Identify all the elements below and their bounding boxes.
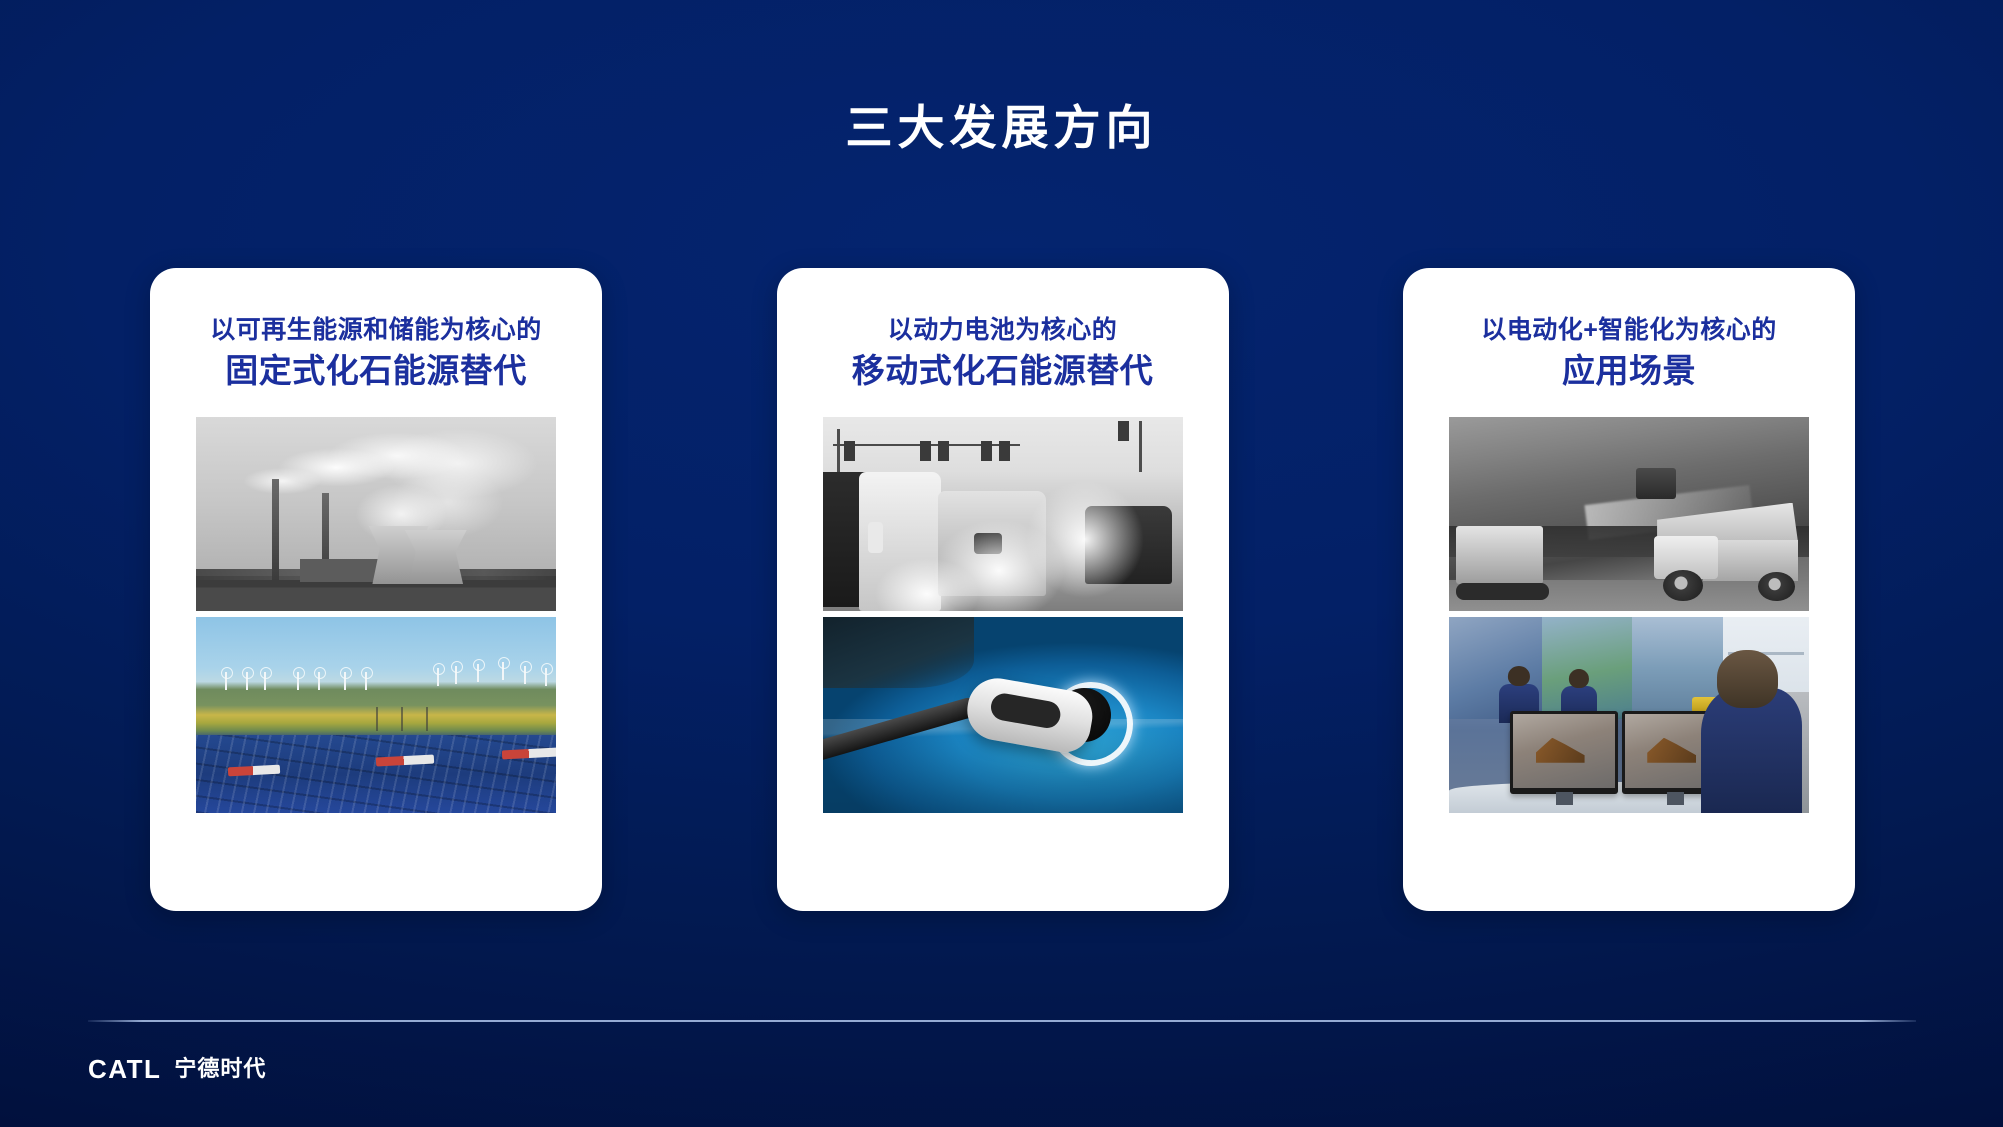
wind-turbine-shape — [545, 668, 547, 686]
cards-row: 以可再生能源和储能为核心的 固定式化石能源替代 — [150, 268, 1855, 911]
traffic-light-shape — [920, 441, 931, 461]
card-3-subtitle: 以电动化+智能化为核心的 — [1415, 314, 1843, 346]
monitor-stand-shape — [1667, 792, 1684, 805]
wind-turbine-shape — [477, 664, 479, 682]
traffic-exhaust-photo — [823, 417, 1183, 611]
wind-turbine-shape — [264, 672, 266, 690]
direction-card-3[interactable]: 以电动化+智能化为核心的 应用场景 — [1403, 268, 1855, 911]
monitor-stand-shape — [1556, 792, 1573, 805]
solar-farm-illustration — [196, 617, 556, 813]
worker-head-shape — [1508, 666, 1530, 686]
excavator-shape — [1536, 738, 1585, 763]
bulldozer-shape — [1456, 526, 1542, 584]
wind-turbine-shape — [524, 666, 526, 684]
slide-canvas: 三大发展方向 以可再生能源和储能为核心的 固定式化石能源替代 — [0, 0, 2003, 1127]
traffic-light-shape — [844, 441, 855, 461]
catl-logo: CATL 宁德时代 — [88, 1056, 266, 1082]
card-3-heading: 以电动化+智能化为核心的 应用场景 — [1403, 314, 1855, 392]
coal-plant-illustration — [196, 417, 556, 611]
control-room-photo — [1449, 617, 1809, 813]
wind-turbine-shape — [365, 672, 367, 690]
wind-turbine-shape — [318, 672, 320, 690]
direction-card-2[interactable]: 以动力电池为核心的 移动式化石能源替代 — [777, 268, 1229, 911]
wind-turbine-shape — [225, 672, 227, 690]
truck-wheel-shape — [1663, 570, 1703, 602]
direction-card-1[interactable]: 以可再生能源和储能为核心的 固定式化石能源替代 — [150, 268, 602, 911]
ev-charging-illustration — [823, 617, 1183, 813]
vehicle-window-shape — [868, 522, 883, 553]
haul-truck-shape — [1636, 468, 1676, 499]
monitor-shape — [1510, 711, 1618, 793]
wind-turbine-shape — [455, 666, 457, 684]
ev-charging-photo — [823, 617, 1183, 813]
page-title: 三大发展方向 — [0, 104, 2003, 151]
haul-truck-shape — [1654, 503, 1798, 596]
mining-site-photo — [1449, 417, 1809, 611]
operator-figure-shape — [1701, 688, 1802, 813]
traffic-light-shape — [981, 441, 992, 461]
pylon-shape — [401, 707, 403, 731]
car-window-shape — [823, 617, 974, 688]
solar-wind-farm-photo — [196, 617, 556, 813]
wind-turbine-shape — [502, 662, 504, 680]
wind-turbine-shape — [437, 668, 439, 686]
traffic-light-shape — [1118, 421, 1129, 441]
logo-latin-text: CATL — [88, 1056, 161, 1082]
card-3-title: 应用场景 — [1415, 350, 1843, 392]
logo-chinese-text: 宁德时代 — [174, 1058, 266, 1080]
wind-turbine-shape — [344, 672, 346, 690]
card-1-subtitle: 以可再生能源和储能为核心的 — [162, 314, 590, 346]
control-room-illustration — [1449, 617, 1809, 813]
plant-building-shape — [300, 559, 379, 582]
smokestack-shape — [272, 479, 279, 580]
excavator-shape — [1647, 738, 1696, 763]
wind-turbine-shape — [246, 672, 248, 690]
card-2-heading: 以动力电池为核心的 移动式化石能源替代 — [777, 314, 1229, 392]
traffic-light-shape — [938, 441, 949, 461]
card-3-images — [1449, 417, 1809, 813]
worker-head-shape — [1569, 669, 1589, 688]
pylon-shape — [426, 707, 428, 731]
mining-illustration — [1449, 417, 1809, 611]
card-2-subtitle: 以动力电池为核心的 — [789, 314, 1217, 346]
card-1-images — [196, 417, 556, 813]
pylon-shape — [376, 707, 378, 731]
operator-head-shape — [1717, 650, 1777, 708]
exhaust-smoke-shape — [1024, 479, 1146, 599]
wind-turbine-shape — [297, 672, 299, 690]
traffic-light-shape — [999, 441, 1010, 461]
card-2-images — [823, 417, 1183, 813]
card-2-title: 移动式化石能源替代 — [789, 350, 1217, 392]
traffic-pole-shape — [1139, 421, 1142, 471]
card-1-title: 固定式化石能源替代 — [162, 350, 590, 392]
coal-power-plant-photo — [196, 417, 556, 611]
dozer-track-shape — [1456, 583, 1549, 600]
card-1-heading: 以可再生能源和储能为核心的 固定式化石能源替代 — [150, 314, 602, 392]
traffic-illustration — [823, 417, 1183, 611]
footer-divider — [88, 1020, 1916, 1022]
monitor-screen-shape — [1513, 714, 1615, 787]
